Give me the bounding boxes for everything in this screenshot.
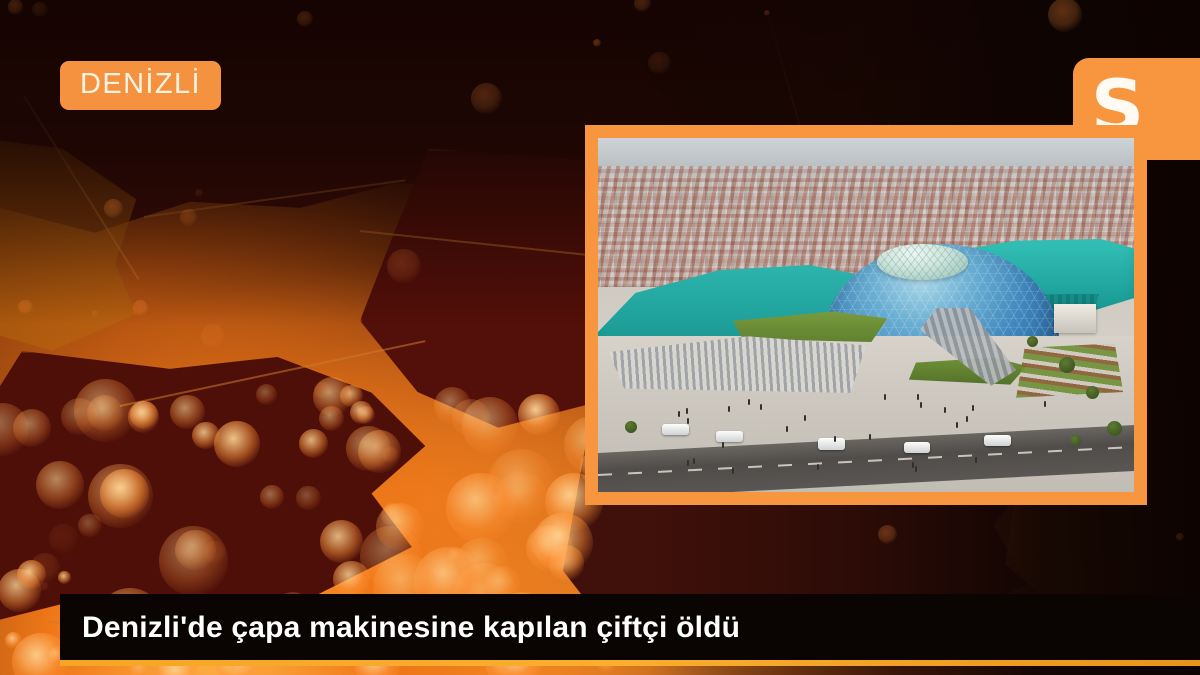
photo-pedestrian [972, 405, 974, 411]
photo-small-building [1054, 304, 1097, 332]
photo-dome-skylight [877, 244, 968, 279]
headline-strip: Denizli'de çapa makinesine kapılan çiftç… [60, 594, 1200, 662]
photo-car [818, 438, 845, 449]
news-graphic: DENİZLİ S Deniz [0, 0, 1200, 675]
headline-underline [60, 660, 1200, 666]
photo-pedestrian [915, 466, 917, 472]
photo-tree [1086, 386, 1099, 399]
photo-pedestrian [869, 434, 871, 440]
photo-tree [1070, 435, 1081, 446]
photo-pedestrian [732, 468, 734, 474]
photo-pedestrian [817, 464, 819, 470]
photo-tree [625, 421, 637, 433]
photo-card [585, 125, 1147, 505]
photo-pedestrian [1044, 401, 1046, 407]
city-badge: DENİZLİ [60, 61, 221, 110]
photo-pedestrian [975, 457, 977, 463]
photo-car [904, 442, 931, 453]
photo-tree [1027, 336, 1038, 347]
photo-car [662, 424, 689, 435]
photo-pedestrian [760, 404, 762, 410]
photo-pedestrian [944, 407, 946, 413]
news-photo [598, 138, 1134, 492]
photo-pedestrian [920, 402, 922, 408]
photo-pedestrian [678, 411, 680, 417]
photo-car [716, 431, 743, 442]
photo-car [984, 435, 1011, 446]
photo-pedestrian [786, 426, 788, 432]
photo-pedestrian [966, 416, 968, 422]
photo-pedestrian [917, 394, 919, 400]
photo-pedestrian [804, 415, 806, 421]
photo-pedestrian [834, 436, 836, 442]
photo-pedestrian [912, 462, 914, 468]
headline-text: Denizli'de çapa makinesine kapılan çiftç… [60, 611, 740, 645]
photo-pedestrian [693, 458, 695, 464]
photo-pedestrian [728, 406, 730, 412]
photo-pedestrian [687, 460, 689, 466]
photo-pedestrian [748, 399, 750, 405]
